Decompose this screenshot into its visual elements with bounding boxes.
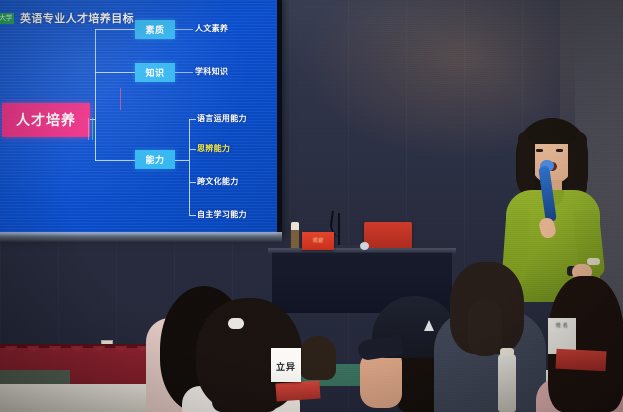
slide-annotation-green xyxy=(92,118,93,140)
presenter-fringe xyxy=(527,122,577,144)
mindmap-node-suzhi: 素质 xyxy=(135,20,175,39)
mindmap-branch3-leaf-stub xyxy=(175,160,189,161)
slide-annotation-blue xyxy=(88,118,89,140)
audience-name-card-front-text: 立异 xyxy=(271,360,301,373)
mindmap-branch2-leaf-line xyxy=(175,72,193,73)
projection-screen: 大学 英语专业人才培养目标 人才培养 素质 人文素养 知识 学科知识 能力 语言… xyxy=(0,0,277,235)
lecture-hall-photo: 大学 英语专业人才培养目标 人才培养 素质 人文素养 知识 学科知识 能力 语言… xyxy=(0,0,623,412)
screen-lower-rail xyxy=(0,232,282,242)
mindmap-leaf-zizhu: 自主学习能力 xyxy=(197,210,247,220)
mindmap-leaf-xueke: 学科知识 xyxy=(195,67,228,77)
mindmap-tick-4 xyxy=(189,215,196,216)
mindmap-node-nengli: 能力 xyxy=(135,150,175,169)
audience-member-3-face xyxy=(360,352,402,408)
hair-tie xyxy=(228,318,244,329)
mindmap-tick-3 xyxy=(189,182,196,183)
presenter-eye-right xyxy=(556,149,563,152)
mindmap-leaf-sibian: 思辨能力 xyxy=(197,144,230,154)
mindmap-leaf-renwen: 人文素养 xyxy=(195,24,228,34)
podium-placard-text: 欢迎 xyxy=(302,237,334,244)
red-folder-front xyxy=(275,380,320,401)
audience-table-left xyxy=(0,384,160,412)
audience-name-card-right-text: 姓 名 xyxy=(548,323,576,330)
mindmap-tick-2 xyxy=(189,149,196,150)
audience-member-4-ponytail xyxy=(468,300,502,356)
mindmap-trunk-vertical xyxy=(95,29,96,161)
podium-placard: 欢迎 xyxy=(302,232,334,250)
presenter-eye-left xyxy=(536,149,543,152)
mindmap-leaf-kuawenhua: 跨文化能力 xyxy=(197,177,239,187)
slide-annotation-pink xyxy=(120,88,121,110)
mindmap-branch3-spine xyxy=(189,119,190,215)
audience-member-5-head xyxy=(300,336,336,380)
mindmap-root-stub xyxy=(90,119,96,120)
wrist-band xyxy=(587,258,600,265)
water-bottle-cap xyxy=(500,348,514,356)
audience-name-card-front: 立异 xyxy=(271,348,301,382)
mindmap-branch2-line xyxy=(95,72,135,73)
mindmap-leaf-yuyan: 语言运用能力 xyxy=(197,114,247,124)
mindmap-tick-1 xyxy=(189,119,196,120)
mindmap-root-node: 人才培养 xyxy=(2,103,90,137)
slide-badge: 大学 xyxy=(0,13,14,24)
mindmap-branch1-line xyxy=(95,29,135,30)
red-folder-right xyxy=(556,349,607,372)
mindmap-node-zhishi: 知识 xyxy=(135,63,175,82)
mindmap-branch1-leaf-line xyxy=(175,29,193,30)
mindmap-branch3-line xyxy=(95,160,135,161)
slide-title: 英语专业人才培养目标 xyxy=(20,12,134,25)
water-bottle-audience xyxy=(498,354,516,412)
microphone-head xyxy=(360,242,369,250)
